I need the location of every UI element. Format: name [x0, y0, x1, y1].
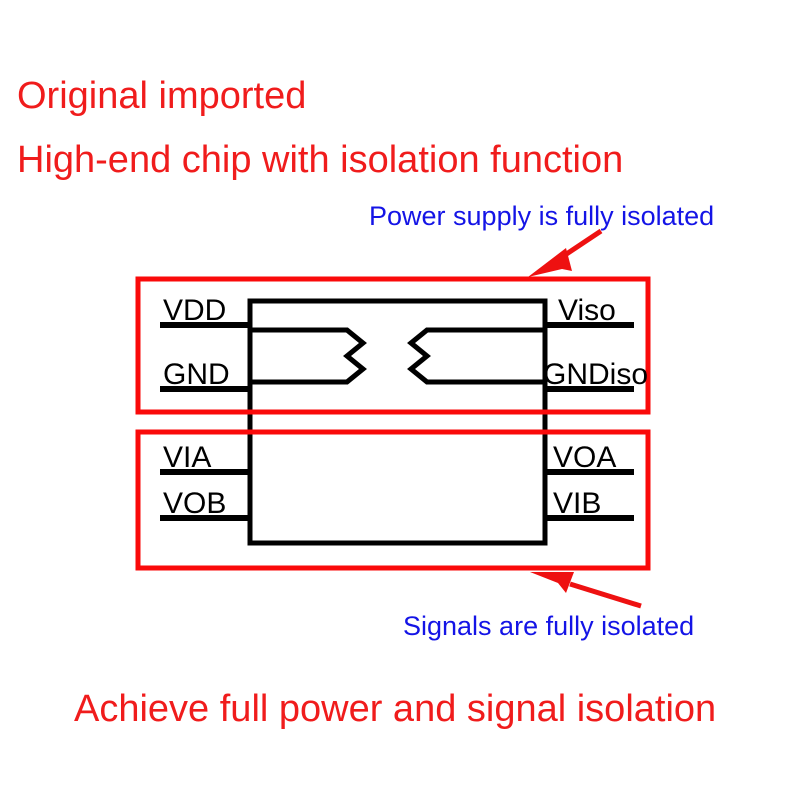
schematic-canvas: Original imported High-end chip with iso… — [0, 0, 800, 800]
headline-line-2: High-end chip with isolation function — [17, 139, 623, 181]
isolation-chip-diagram: Original imported High-end chip with iso… — [0, 0, 800, 800]
pin-label-vib: VIB — [553, 487, 601, 520]
pin-label-viso: Viso — [558, 294, 616, 327]
pin-label-gnd: GND — [163, 358, 230, 391]
pin-label-via: VIA — [163, 441, 211, 474]
pin-label-gndiso: GNDiso — [543, 358, 648, 391]
canvas-background — [0, 0, 800, 800]
callout-signals-isolated: Signals are fully isolated — [403, 611, 694, 641]
pin-label-voa: VOA — [553, 441, 616, 474]
pin-label-vob: VOB — [163, 487, 226, 520]
pin-label-vdd: VDD — [163, 294, 226, 327]
headline-line-1: Original imported — [17, 75, 306, 117]
callout-power-supply: Power supply is fully isolated — [369, 201, 714, 231]
footer-summary: Achieve full power and signal isolation — [74, 688, 716, 730]
